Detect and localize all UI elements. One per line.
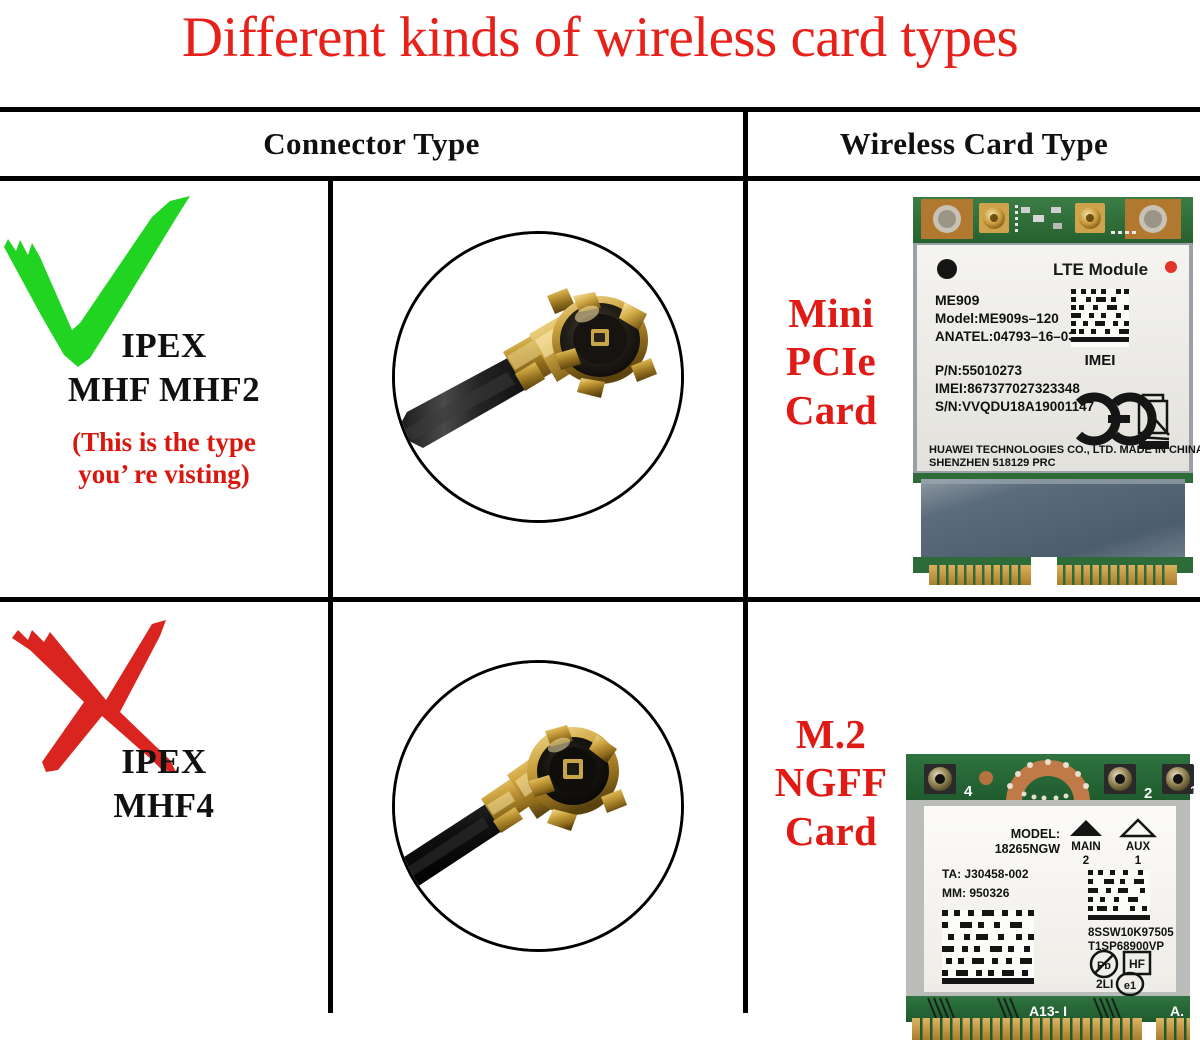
svg-text:P/N:55010273: P/N:55010273 [935, 363, 1023, 378]
svg-text:2: 2 [1144, 785, 1152, 802]
header-wireless-card-type: Wireless Card Type [748, 115, 1200, 173]
cell-connector-photo-1 [333, 181, 743, 597]
connector-name-line1: IPEX [0, 324, 328, 368]
cell-card-2: M.2 NGFF Card [748, 602, 1200, 1013]
card-type-label-1: Mini PCIe Card [748, 289, 914, 434]
svg-text:1: 1 [1190, 783, 1198, 800]
m2-ngff-card-photo: 4 2 1 MODEL: 18265NGW MAIN 2 AUX [898, 750, 1198, 1045]
page-title: Different kinds of wireless card types [0, 8, 1200, 68]
svg-text:e1: e1 [1124, 980, 1136, 992]
card-type-label-line3: Card [748, 807, 914, 855]
comparison-table: Connector Type Wireless Card Type IPEX M… [0, 107, 1200, 1013]
table-row: IPEX MHF MHF2 (This is the type you’ re … [0, 181, 1200, 597]
card-type-label-line2: NGFF [748, 758, 914, 806]
cell-card-1: Mini PCIe Card [748, 181, 1200, 597]
svg-text:4: 4 [964, 783, 973, 800]
connector-label-group-1: IPEX MHF MHF2 (This is the type you’ re … [0, 324, 328, 491]
svg-text:A13- I: A13- I [1029, 1003, 1067, 1019]
svg-text:LTE Module: LTE Module [1053, 260, 1148, 279]
connector-note-line2: you’ re visting) [0, 458, 328, 491]
svg-text:AUX: AUX [1126, 841, 1151, 853]
svg-text:MODEL:: MODEL: [1011, 827, 1060, 841]
card-type-label-line1: M.2 [748, 710, 914, 758]
connector-name-line2: MHF MHF2 [0, 368, 328, 412]
svg-text:MAIN: MAIN [1071, 841, 1100, 853]
connector-label-group-2: IPEX MHF4 [0, 740, 328, 828]
connector-name-line1: IPEX [0, 740, 328, 784]
svg-text:2LI: 2LI [1096, 977, 1113, 991]
svg-text:8SSW10K97505: 8SSW10K97505 [1088, 927, 1174, 939]
cell-connector-label-2: IPEX MHF4 [0, 602, 328, 1013]
svg-text:18265NGW: 18265NGW [995, 842, 1061, 856]
cell-connector-label-1: IPEX MHF MHF2 (This is the type you’ re … [0, 181, 328, 597]
svg-text:2: 2 [1083, 855, 1089, 867]
table-row: IPEX MHF4 [0, 602, 1200, 1013]
ipex-mhf4-connector-photo [392, 660, 684, 952]
svg-text:TA: J30458-002: TA: J30458-002 [942, 867, 1029, 881]
svg-text:S/N:VVQDU18A19001147: S/N:VVQDU18A19001147 [935, 399, 1094, 414]
svg-text:HUAWEI TECHNOLOGIES CO., LTD.: HUAWEI TECHNOLOGIES CO., LTD. MADE IN CH… [929, 444, 1200, 456]
ipex-mhf2-connector-photo [392, 231, 684, 523]
connector-name-line2: MHF4 [0, 784, 328, 828]
cell-connector-photo-2 [333, 602, 743, 1013]
svg-text:IMEI: IMEI [1085, 352, 1116, 369]
svg-text:SHENZHEN 518129 PRC: SHENZHEN 518129 PRC [929, 457, 1056, 469]
svg-text:1: 1 [1135, 855, 1142, 867]
card-type-label-line1: Mini [748, 289, 914, 337]
svg-text:MM: 950326: MM: 950326 [942, 886, 1010, 900]
card-type-label-line3: Card [748, 386, 914, 434]
svg-text:Model:ME909s–120: Model:ME909s–120 [935, 311, 1059, 326]
card-type-label-2: M.2 NGFF Card [748, 710, 914, 855]
connector-note-line1: (This is the type [0, 426, 328, 459]
mini-pcie-card-photo: LTE Module ME909 Model:ME909s–120 ANATEL… [903, 189, 1200, 594]
header-connector-type: Connector Type [0, 115, 743, 173]
svg-text:IMEI:867377027323348: IMEI:867377027323348 [935, 381, 1080, 396]
svg-text:HF: HF [1129, 957, 1145, 971]
table-border-top [0, 107, 1200, 112]
card-type-label-line2: PCIe [748, 337, 914, 385]
svg-text:ME909: ME909 [935, 292, 980, 308]
svg-text:A.: A. [1170, 1003, 1184, 1019]
